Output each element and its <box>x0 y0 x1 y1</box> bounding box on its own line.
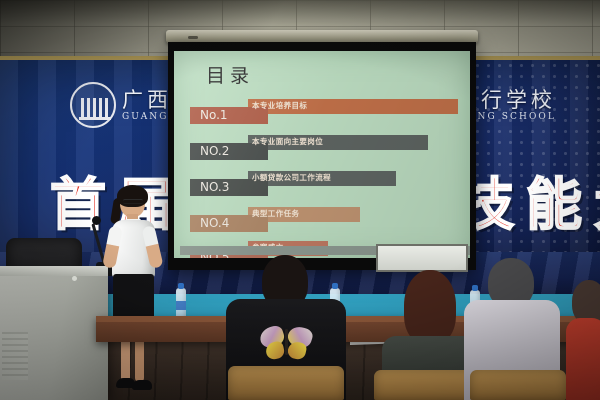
lectern <box>0 272 108 400</box>
presenter <box>104 188 166 400</box>
audience-chair <box>470 370 566 400</box>
slide-item-number: NO.3 <box>200 179 278 196</box>
slide-item-number: No.1 <box>200 107 278 124</box>
judge-red-print-blouse <box>566 280 600 400</box>
presentation-photo: 广西银行学校 GUANGXI BANKING SCHOOL 广西银行学校 GUA… <box>0 0 600 400</box>
judge-torso <box>566 318 600 400</box>
wall-whiteboard <box>376 244 468 272</box>
presenter-shoe-right <box>132 380 152 390</box>
slide-title: 目录 <box>206 61 254 88</box>
projected-slide: 目录 本专业培养目标No.1本专业面向主要岗位NO.2小额贷款公司工作流程NO.… <box>174 51 470 258</box>
microphone-head-icon <box>92 216 101 225</box>
slide-item-number: NO.2 <box>200 143 278 160</box>
projection-screen-frame: 目录 本专业培养目标No.1本专业面向主要岗位NO.2小额贷款公司工作流程NO.… <box>168 42 476 270</box>
school-emblem-icon <box>70 82 116 128</box>
judge-hair <box>404 270 456 344</box>
audience-chair <box>228 366 344 400</box>
slide-item-number: NO.4 <box>200 215 278 232</box>
butterfly-print-icon <box>260 327 312 361</box>
glasses-icon <box>123 199 143 204</box>
